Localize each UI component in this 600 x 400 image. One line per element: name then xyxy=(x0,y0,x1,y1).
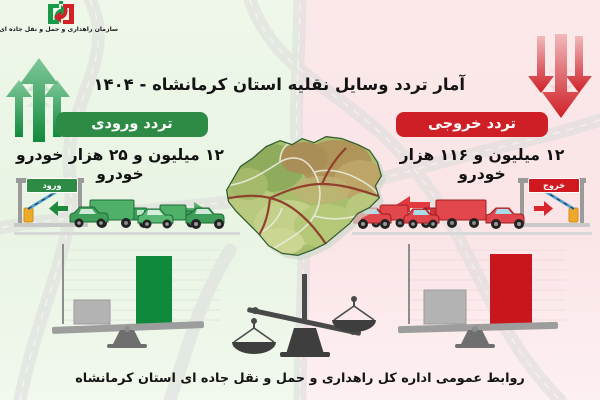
entry-sign: ورود xyxy=(26,178,78,193)
outbound-badge: تردد خروجی xyxy=(396,112,548,137)
inbound-badge: تردد ورودی xyxy=(56,112,208,137)
footer-credit: روابط عمومی اداره کل راهداری و حمل و نقل… xyxy=(60,368,540,390)
green-vehicle-queue-icon xyxy=(68,192,234,238)
infographic-poster: سازمان راهداری و حمل و نقل جاده ای xyxy=(0,0,600,400)
exit-sign: خروج xyxy=(528,178,580,193)
organization-logo: سازمان راهداری و حمل و نقل جاده ای xyxy=(18,1,118,41)
inbound-value-line1: ۱۲ میلیون و ۲۵ هزار خودرو xyxy=(16,146,224,164)
chart-bar-current xyxy=(490,254,532,324)
road-maintenance-organization-logo-icon xyxy=(44,1,78,27)
outbound-value-line1: ۱۲ میلیون و ۱۱۶ هزار xyxy=(400,146,565,164)
logo-caption: سازمان راهداری و حمل و نقل جاده ای xyxy=(18,26,118,40)
outbound-bar-chart xyxy=(398,238,576,350)
chart-bar-current xyxy=(136,256,172,324)
inbound-bar-chart xyxy=(52,238,230,350)
page-title: آمار تردد وسایل نقلیه استان کرمانشاه - ۱… xyxy=(140,72,465,98)
chart-bar-previous xyxy=(74,300,110,324)
balance-scale-icon xyxy=(232,268,380,360)
kermanshah-province-relief-map xyxy=(218,128,388,263)
chart-bar-previous xyxy=(424,290,466,324)
